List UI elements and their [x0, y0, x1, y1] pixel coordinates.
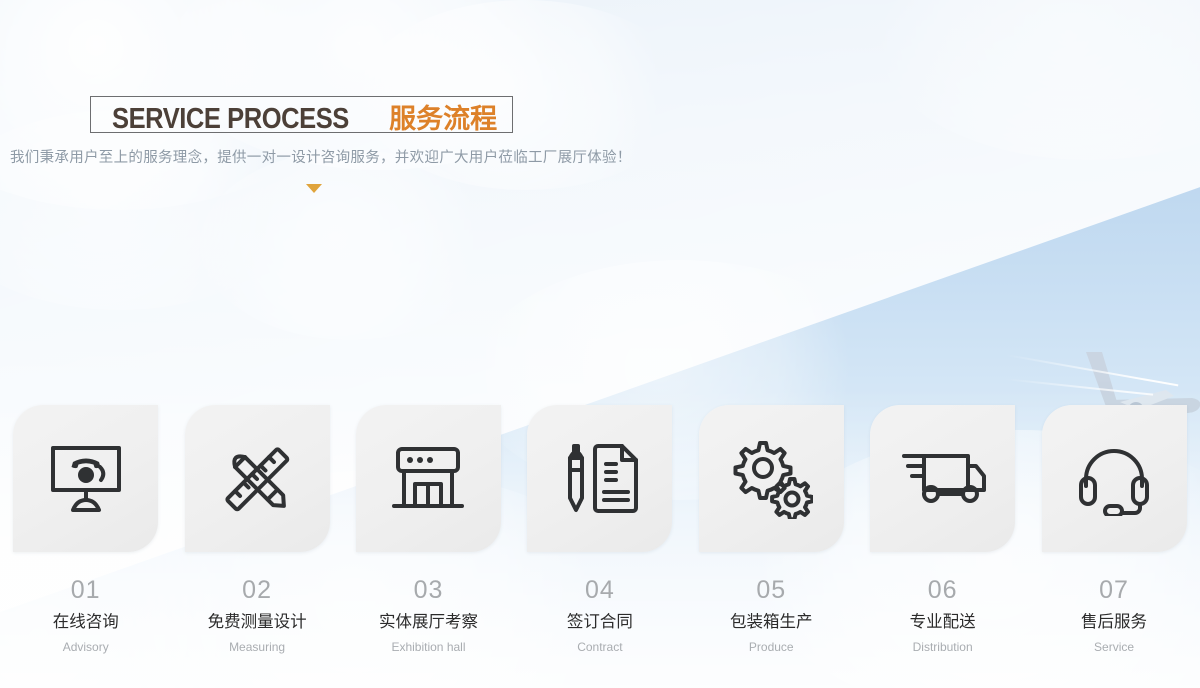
step-number: 01	[71, 578, 101, 603]
title-english: SERVICE PROCESS	[112, 102, 349, 136]
section-subtitle: 我们秉承用户至上的服务理念，提供一对一设计咨询服务，并欢迎广大用户莅临工厂展厅体…	[10, 146, 632, 167]
process-step-5[interactable]: 05 包装箱生产 Produce	[686, 405, 857, 653]
service-process-steps: 01 在线咨询 Advisory 02 免费测量设计 Measuring	[0, 405, 1200, 653]
step-label-cn: 售后服务	[1081, 614, 1147, 631]
step-label-cn: 实体展厅考察	[379, 614, 478, 631]
step-label-cn: 签订合同	[567, 614, 633, 631]
ruler-pencil-icon	[217, 439, 297, 519]
step-icon-card[interactable]	[870, 405, 1015, 552]
gears-icon	[729, 439, 813, 519]
step-label-cn: 专业配送	[910, 614, 976, 631]
process-step-2[interactable]: 02 免费测量设计 Measuring	[171, 405, 342, 653]
step-label-en: Exhibition hall	[391, 641, 465, 653]
step-label-en: Service	[1094, 641, 1134, 653]
step-number: 04	[585, 578, 615, 603]
step-number: 05	[756, 578, 786, 603]
delivery-truck-icon	[900, 448, 986, 510]
step-number: 07	[1099, 578, 1129, 603]
step-label-cn: 免费测量设计	[208, 614, 307, 631]
step-icon-card[interactable]	[13, 405, 158, 552]
step-label-en: Distribution	[913, 641, 973, 653]
step-label-en: Contract	[577, 641, 622, 653]
step-label-cn: 包装箱生产	[730, 614, 813, 631]
cloud-shape	[880, 0, 1200, 160]
contrail-line	[1006, 354, 1179, 386]
process-step-1[interactable]: 01 在线咨询 Advisory	[0, 405, 171, 653]
process-step-4[interactable]: 04 签订合同 Contract	[514, 405, 685, 653]
monitor-phone-icon	[47, 442, 125, 516]
headset-icon	[1076, 442, 1152, 516]
contrail-line	[1004, 378, 1153, 396]
step-icon-card[interactable]	[699, 405, 844, 552]
title-chinese: 服务流程	[389, 103, 497, 137]
page-title: SERVICE PROCESS服务流程	[112, 102, 497, 141]
step-label-en: Advisory	[63, 641, 109, 653]
step-icon-card[interactable]	[1042, 405, 1187, 552]
process-step-3[interactable]: 03 实体展厅考察 Exhibition hall	[343, 405, 514, 653]
storefront-icon	[388, 444, 468, 514]
step-icon-card[interactable]	[356, 405, 501, 552]
step-icon-card[interactable]	[185, 405, 330, 552]
step-number: 02	[242, 578, 272, 603]
cloud-shape	[200, 150, 500, 340]
step-number: 06	[928, 578, 958, 603]
step-icon-card[interactable]	[527, 405, 672, 552]
chevron-down-icon	[306, 184, 322, 193]
cloud-shape	[170, 0, 590, 170]
step-label-cn: 在线咨询	[53, 614, 119, 631]
process-step-7[interactable]: 07 售后服务 Service	[1028, 405, 1199, 653]
step-label-en: Measuring	[229, 641, 285, 653]
step-number: 03	[414, 578, 444, 603]
pen-document-icon	[560, 440, 640, 518]
process-step-6[interactable]: 06 专业配送 Distribution	[857, 405, 1028, 653]
step-label-en: Produce	[749, 641, 794, 653]
